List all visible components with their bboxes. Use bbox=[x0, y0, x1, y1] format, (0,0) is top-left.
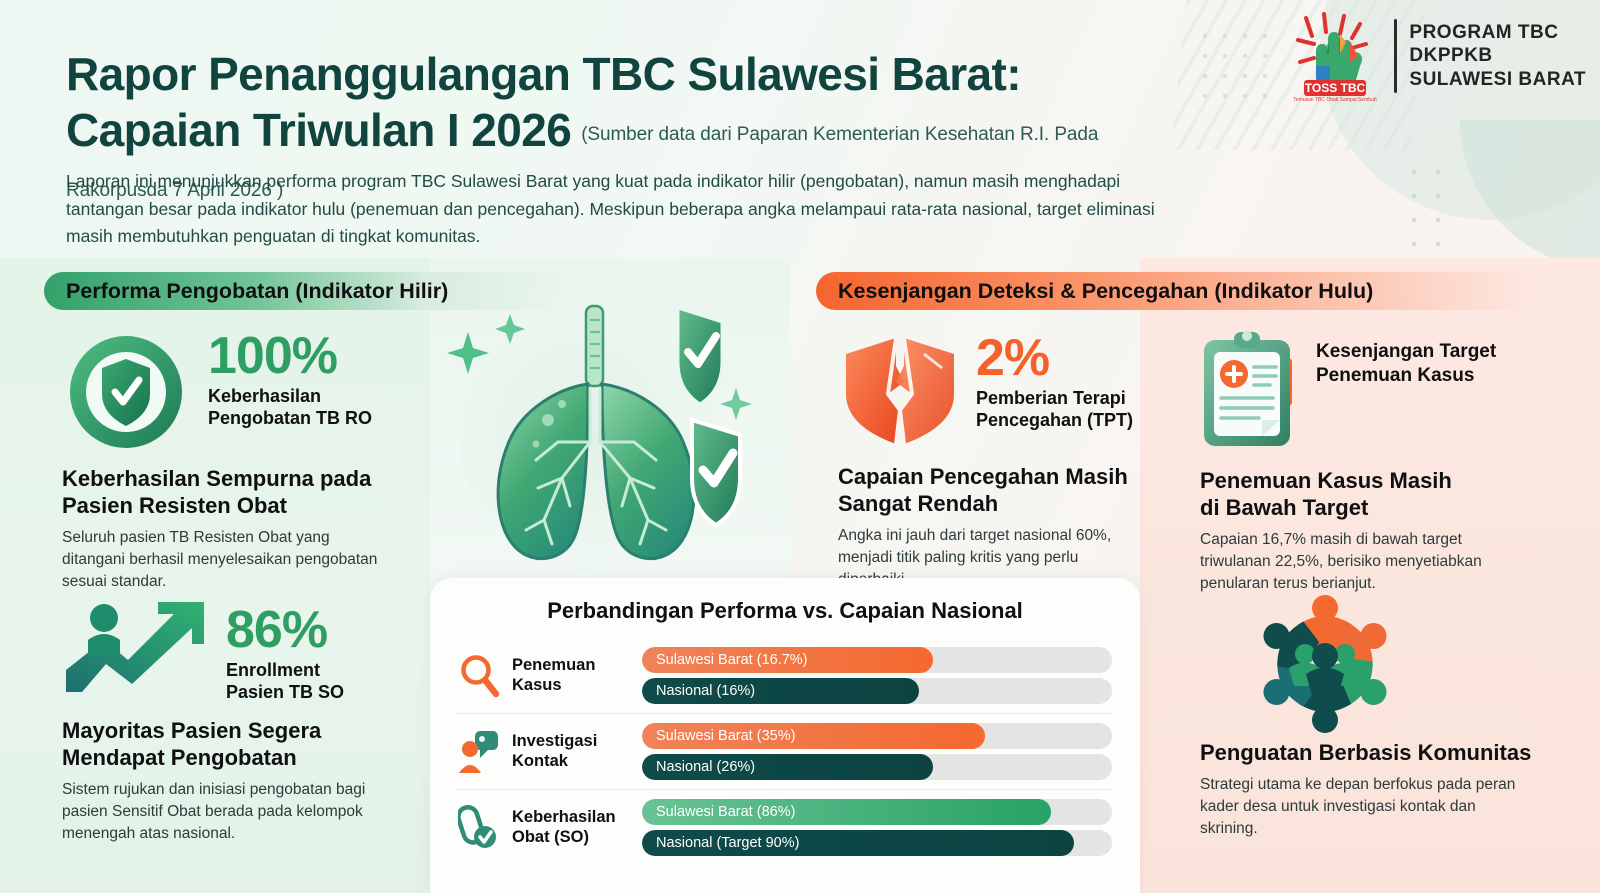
stat-value-label-case-finding: Kesenjangan Target Penemuan Kasus bbox=[1316, 330, 1496, 388]
bar-fill-nasional: Nasional (26%) bbox=[642, 754, 933, 780]
toss-tbc-logo-icon: TOSS TBC Temukan TBC Obati Sampai Sembuh bbox=[1286, 10, 1382, 102]
bar-fill-sulbar: Sulawesi Barat (86%) bbox=[642, 799, 1051, 825]
chart-row-bars: Sulawesi Barat (86%) Nasional (Target 90… bbox=[642, 799, 1112, 856]
stat-value-label-enrollment-so: Enrollment Pasien TB SO bbox=[226, 659, 344, 704]
stat-desc-case-finding: Capaian 16,7% masih di bawah target triw… bbox=[1200, 529, 1530, 596]
stat-desc-enrollment-so: Sistem rujukan dan inisiasi pengobatan b… bbox=[62, 779, 382, 846]
svg-text:TOSS TBC: TOSS TBC bbox=[1305, 81, 1366, 95]
magnifier-icon bbox=[458, 653, 500, 699]
broken-shield-icon bbox=[838, 332, 962, 450]
decor-quarter-circle bbox=[1460, 120, 1600, 270]
stat-value-tpt: 2% bbox=[976, 334, 1133, 384]
logo-divider bbox=[1394, 19, 1397, 93]
stat-community: Penguatan Berbasis Komunitas Strategi ut… bbox=[1200, 740, 1531, 841]
comparison-chart-card: Perbandingan Performa vs. Capaian Nasion… bbox=[430, 578, 1140, 893]
bar-fill-nasional: Nasional (Target 90%) bbox=[642, 830, 1074, 856]
svg-text:Temukan TBC Obati Sampai Sembu: Temukan TBC Obati Sampai Sembuh bbox=[1294, 97, 1378, 102]
stat-desc-treatment-ro: Seluruh pasien TB Resisten Obat yang dit… bbox=[62, 527, 382, 594]
title-line-2: Capaian Triwulan I 2026 bbox=[66, 102, 571, 158]
chart-row: Penemuan Kasus Sulawesi Barat (16.7%) Na… bbox=[458, 638, 1112, 713]
chart-row: Keberhasilan Obat (SO) Sulawesi Barat (8… bbox=[458, 789, 1112, 865]
chart-row-label: Penemuan Kasus bbox=[512, 656, 630, 695]
stat-desc-community: Strategi utama ke depan berfokus pada pe… bbox=[1200, 774, 1520, 841]
logo-text-block: PROGRAM TBC DKPPKB SULAWESI BARAT bbox=[1409, 21, 1586, 91]
contact-person-icon bbox=[458, 729, 500, 775]
stat-value-label-tpt: Pemberian Terapi Pencegahan (TPT) bbox=[976, 387, 1133, 432]
bar-track: Nasional (26%) bbox=[642, 754, 1112, 780]
stat-title-enrollment-so: Mayoritas Pasien Segera Mendapat Pengoba… bbox=[62, 718, 382, 772]
bar-track: Sulawesi Barat (86%) bbox=[642, 799, 1112, 825]
chart-row-bars: Sulawesi Barat (35%) Nasional (26%) bbox=[642, 723, 1112, 780]
chart-row-bars: Sulawesi Barat (16.7%) Nasional (16%) bbox=[642, 647, 1112, 704]
clipboard-medical-icon bbox=[1200, 330, 1302, 450]
bar-track: Nasional (Target 90%) bbox=[642, 830, 1112, 856]
stat-value-label-treatment-ro: Keberhasilan Pengobatan TB RO bbox=[208, 385, 372, 430]
bar-fill-sulbar: Sulawesi Barat (35%) bbox=[642, 723, 985, 749]
chart-row-label: Investigasi Kontak bbox=[512, 732, 630, 771]
bar-fill-nasional: Nasional (16%) bbox=[642, 678, 919, 704]
logo-line-3: SULAWESI BARAT bbox=[1409, 68, 1586, 91]
decor-dot-grid-top bbox=[1195, 26, 1271, 98]
intro-paragraph: Laporan ini menunjukkan performa program… bbox=[66, 168, 1176, 251]
bar-track: Nasional (16%) bbox=[642, 678, 1112, 704]
stat-value-treatment-ro: 100% bbox=[208, 332, 372, 382]
section-band-left: Performa Pengobatan (Indikator Hilir) bbox=[44, 272, 574, 310]
section-band-right: Kesenjangan Deteksi & Pencegahan (Indika… bbox=[816, 272, 1536, 310]
title-line-1: Rapor Penanggulangan TBC Sulawesi Barat: bbox=[66, 48, 1021, 100]
stat-value-enrollment-so: 86% bbox=[226, 606, 344, 656]
infographic-canvas: TOSS TBC Temukan TBC Obati Sampai Sembuh… bbox=[0, 0, 1600, 893]
stat-case-finding: Kesenjangan Target Penemuan Kasus Penemu… bbox=[1200, 330, 1530, 596]
growth-arrow-person-icon bbox=[62, 600, 212, 704]
shield-check-circle-icon bbox=[62, 332, 194, 452]
logo-line-2: DKPPKB bbox=[1409, 44, 1586, 67]
logo-line-1: PROGRAM TBC bbox=[1409, 21, 1586, 44]
bar-track: Sulawesi Barat (35%) bbox=[642, 723, 1112, 749]
stat-title-treatment-ro: Keberhasilan Sempurna pada Pasien Resist… bbox=[62, 466, 382, 520]
stat-title-case-finding: Penemuan Kasus Masih di Bawah Target bbox=[1200, 468, 1520, 522]
chart-row: Investigasi Kontak Sulawesi Barat (35%) … bbox=[458, 713, 1112, 789]
pill-check-icon bbox=[458, 805, 500, 851]
stat-title-tpt: Capaian Pencegahan Masih Sangat Rendah bbox=[838, 464, 1138, 518]
stat-tpt: 2% Pemberian Terapi Pencegahan (TPT) Cap… bbox=[838, 332, 1140, 592]
chart-title: Perbandingan Performa vs. Capaian Nasion… bbox=[458, 598, 1112, 624]
stat-enrollment-so: 86% Enrollment Pasien TB SO Mayoritas Pa… bbox=[62, 600, 382, 846]
stat-title-community: Penguatan Berbasis Komunitas bbox=[1200, 740, 1531, 767]
stat-treatment-ro: 100% Keberhasilan Pengobatan TB RO Keber… bbox=[62, 332, 382, 594]
bar-fill-sulbar: Sulawesi Barat (16.7%) bbox=[642, 647, 933, 673]
bar-track: Sulawesi Barat (16.7%) bbox=[642, 647, 1112, 673]
brand-logo: TOSS TBC Temukan TBC Obati Sampai Sembuh… bbox=[1286, 8, 1586, 104]
chart-row-label: Keberhasilan Obat (SO) bbox=[512, 808, 630, 847]
